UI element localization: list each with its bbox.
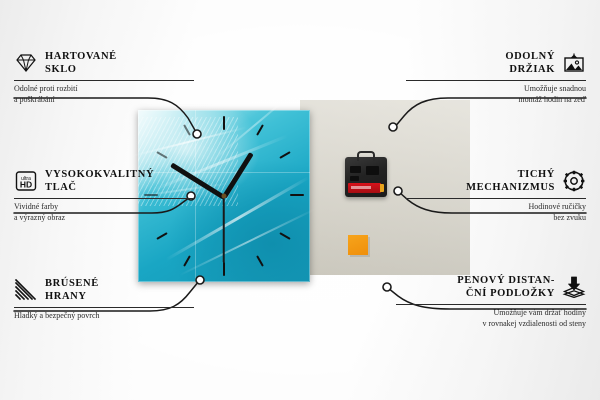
press-down-stack-icon [562, 276, 586, 298]
diamond-icon [14, 52, 38, 74]
connector-dot-mechanism [394, 187, 402, 195]
connector-dot-holder [389, 123, 397, 131]
feature-subtitle: Umožňuje vám držať hodiny v rovnakej vzd… [396, 308, 586, 329]
feature-header: PENOVÝ DISTAN- ČNÍ PODLOŽKY [396, 274, 586, 300]
ultra-hd-icon: ultra HD [14, 170, 38, 192]
hatched-edge-icon [14, 279, 38, 301]
feature-subtitle: Hladký a bezpečný povrch [14, 311, 194, 322]
picture-hanger-icon [562, 52, 586, 74]
svg-text:HD: HD [20, 180, 32, 190]
feature-header: ODOLNÝ DRŽIAK [406, 50, 586, 76]
feature-high-quality-print[interactable]: ultra HD VYSOKOKVALITNÝ TLAČ Vividné far… [14, 168, 194, 223]
feature-title: HARTOVANÉ SKLO [45, 50, 117, 76]
feature-title: BRÚSENÉ HRANY [45, 277, 99, 303]
feature-title: ODOLNÝ DRŽIAK [505, 50, 555, 76]
feature-header: ultra HD VYSOKOKVALITNÝ TLAČ [14, 168, 194, 194]
feature-title: VYSOKOKVALITNÝ TLAČ [45, 168, 154, 194]
feature-subtitle: Vividné farby a výrazný obraz [14, 202, 194, 223]
feature-durable-holder[interactable]: ODOLNÝ DRŽIAK Umožňuje snadnou montáž ho… [406, 50, 586, 105]
feature-subtitle: Odolné proti rozbití a poškrábání [14, 84, 194, 105]
feature-header: TICHÝ MECHANIZMUS [406, 168, 586, 194]
infographic-canvas: HARTOVANÉ SKLO Odolné proti rozbití a po… [0, 0, 600, 400]
feature-subtitle: Umožňuje snadnou montáž hodin na zeď [406, 84, 586, 105]
divider [396, 304, 586, 305]
connector-dot-edges [196, 276, 204, 284]
feature-title: PENOVÝ DISTAN- ČNÍ PODLOŽKY [457, 274, 555, 300]
divider [14, 80, 194, 81]
connector-dot-foam [383, 283, 391, 291]
feature-header: BRÚSENÉ HRANY [14, 277, 194, 303]
feature-silent-mechanism[interactable]: TICHÝ MECHANIZMUS [406, 168, 586, 223]
feature-ground-edges[interactable]: BRÚSENÉ HRANY Hladký a bezpečný povrch [14, 277, 194, 322]
divider [14, 198, 194, 199]
gear-icon [562, 170, 586, 192]
feature-foam-spacers[interactable]: PENOVÝ DISTAN- ČNÍ PODLOŽKY Umožňuje vám… [396, 274, 586, 329]
divider [14, 307, 194, 308]
feature-header: HARTOVANÉ SKLO [14, 50, 194, 76]
feature-subtitle: Hodinové ručičky bez zvuku [406, 202, 586, 223]
divider [406, 80, 586, 81]
feature-title: TICHÝ MECHANIZMUS [466, 168, 555, 194]
feature-tempered-glass[interactable]: HARTOVANÉ SKLO Odolné proti rozbití a po… [14, 50, 194, 105]
divider [406, 198, 586, 199]
connector-dot-glass [193, 130, 201, 138]
